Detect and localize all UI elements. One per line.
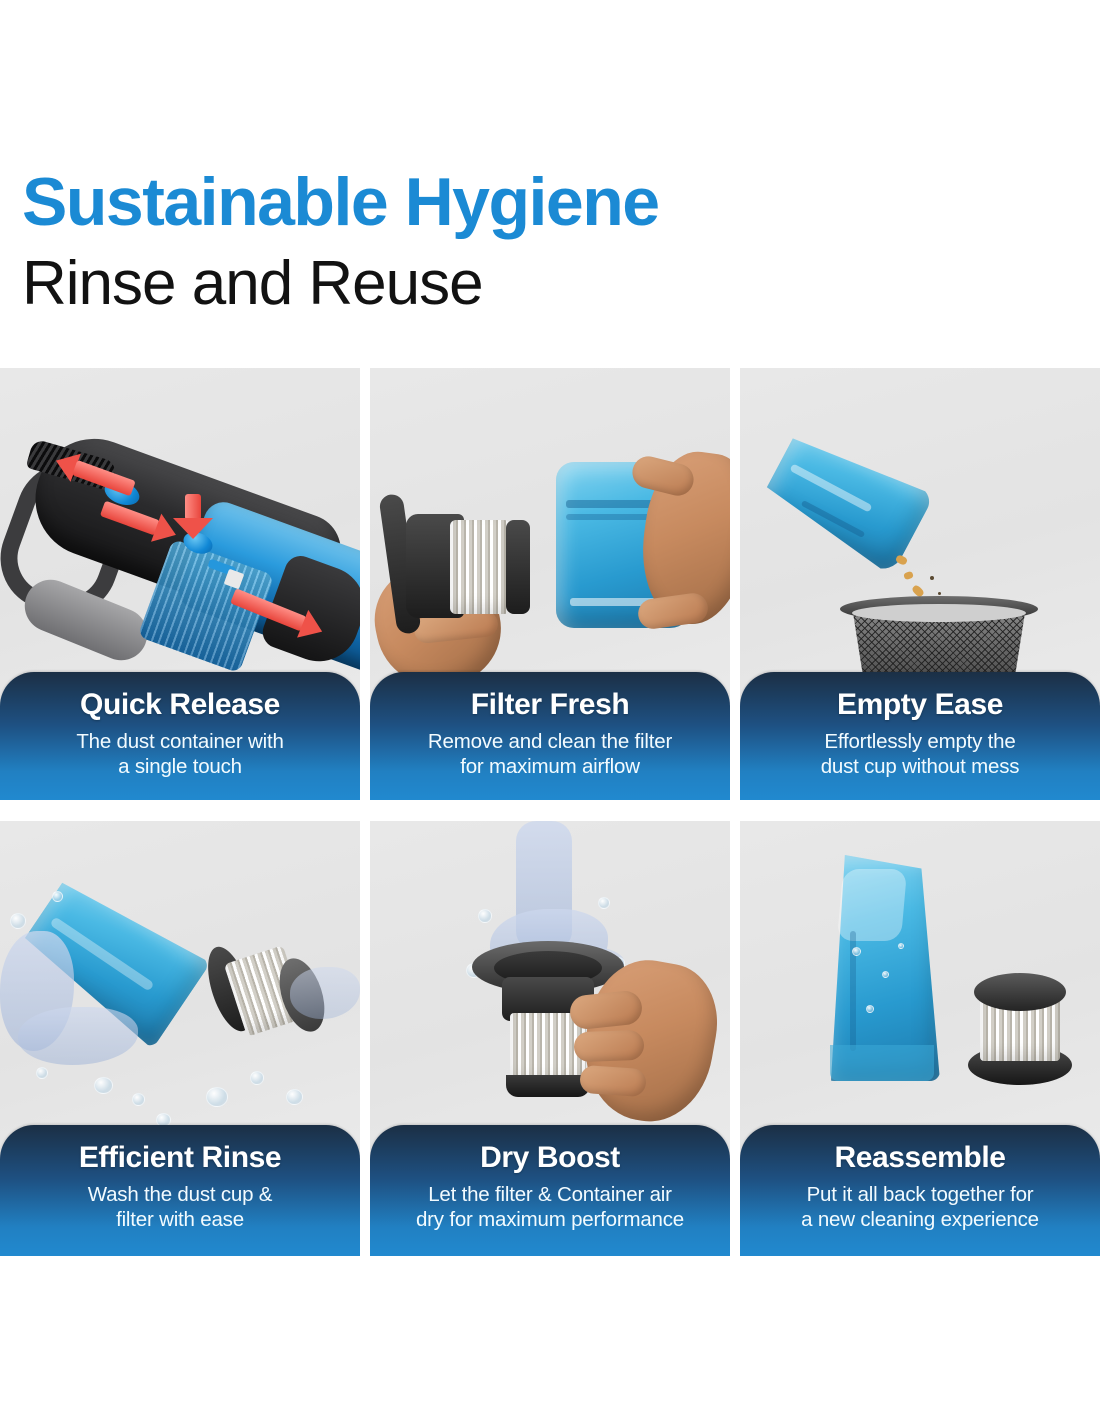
panel-caption: Quick Release The dust container with a … [0, 672, 360, 800]
water-splash-shape [18, 1007, 138, 1065]
filter-bottom-shape [506, 1075, 590, 1097]
filter-top-cap-shape [974, 973, 1066, 1011]
page-title: Sustainable Hygiene [22, 168, 1100, 236]
water-droplet [206, 1087, 228, 1107]
panel-caption: Filter Fresh Remove and clean the filter… [370, 672, 730, 800]
water-droplet [852, 947, 861, 956]
water-droplet [52, 891, 63, 902]
panel-title: Quick Release [0, 688, 360, 723]
debris-particle [895, 554, 908, 566]
water-droplet [94, 1077, 113, 1094]
finger-shape [579, 1065, 647, 1098]
filter-pleated-shape [450, 520, 510, 614]
panel-description: Remove and clean the filter for maximum … [370, 729, 730, 779]
dust-speck [938, 592, 941, 595]
panel-title: Filter Fresh [370, 688, 730, 723]
bin-interior-shape [852, 604, 1026, 622]
water-droplet [132, 1093, 145, 1106]
panel-description: Let the filter & Container air dry for m… [370, 1182, 730, 1232]
feature-panel-grid: Quick Release The dust container with a … [0, 368, 1100, 1256]
debris-particle [903, 571, 914, 580]
panel-title: Reassemble [740, 1141, 1100, 1176]
feature-panel-efficient-rinse[interactable]: Efficient Rinse Wash the dust cup & filt… [0, 821, 360, 1256]
water-droplet [882, 971, 889, 978]
cup-highlight-shape [837, 869, 907, 941]
panel-title: Efficient Rinse [0, 1141, 360, 1176]
page-subtitle: Rinse and Reuse [22, 248, 1100, 319]
cup-water-line-shape [830, 1045, 934, 1081]
feature-panel-empty-ease[interactable]: Empty Ease Effortlessly empty the dust c… [740, 368, 1100, 800]
panel-description: Wash the dust cup & filter with ease [0, 1182, 360, 1232]
panel-description: Put it all back together for a new clean… [740, 1182, 1100, 1232]
panel-caption: Empty Ease Effortlessly empty the dust c… [740, 672, 1100, 800]
water-droplet [598, 897, 610, 909]
filter-cap-shape [506, 520, 530, 614]
dust-speck [930, 576, 934, 580]
panel-caption: Reassemble Put it all back together for … [740, 1125, 1100, 1256]
water-droplet [10, 913, 26, 929]
feature-panel-reassemble[interactable]: Reassemble Put it all back together for … [740, 821, 1100, 1256]
panel-title: Empty Ease [740, 688, 1100, 723]
finger-shape [573, 1030, 644, 1062]
feature-panel-filter-fresh[interactable]: Filter Fresh Remove and clean the filter… [370, 368, 730, 800]
water-droplet [898, 943, 904, 949]
feature-panel-dry-boost[interactable]: Dry Boost Let the filter & Container air… [370, 821, 730, 1256]
water-droplet [250, 1071, 264, 1085]
water-droplet [36, 1067, 48, 1079]
feature-panel-quick-release[interactable]: Quick Release The dust container with a … [0, 368, 360, 800]
panel-description: Effortlessly empty the dust cup without … [740, 729, 1100, 779]
panel-caption: Dry Boost Let the filter & Container air… [370, 1125, 730, 1256]
page-header: Sustainable Hygiene Rinse and Reuse [0, 0, 1100, 319]
panel-caption: Efficient Rinse Wash the dust cup & filt… [0, 1125, 360, 1256]
water-droplet [286, 1089, 303, 1105]
water-splash-shape [290, 967, 360, 1019]
panel-description: The dust container with a single touch [0, 729, 360, 779]
water-droplet [866, 1005, 874, 1013]
panel-title: Dry Boost [370, 1141, 730, 1176]
water-droplet [478, 909, 492, 923]
